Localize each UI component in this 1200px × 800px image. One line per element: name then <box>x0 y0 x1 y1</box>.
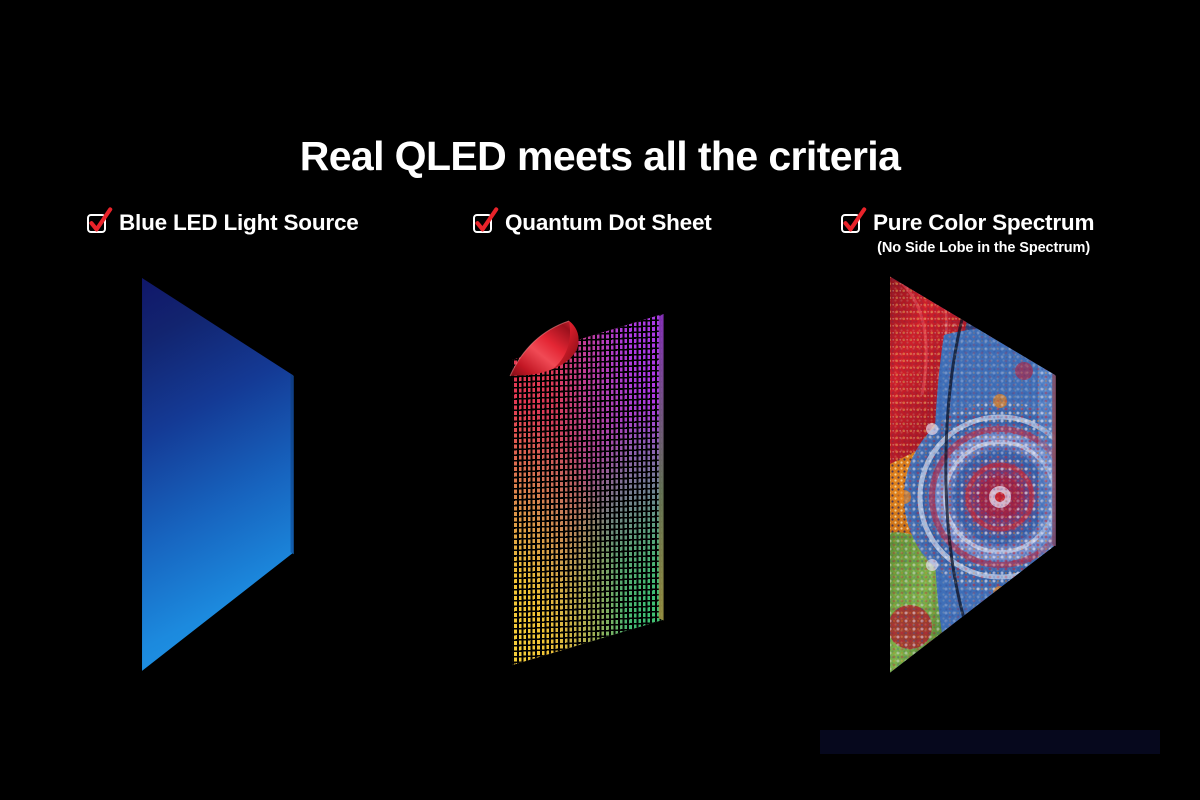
criterion-label: Pure Color Spectrum <box>873 209 1094 237</box>
page-title: Real QLED meets all the criteria <box>0 133 1200 180</box>
blue-led-panel <box>140 276 296 674</box>
checked-checkbox-icon <box>840 212 864 236</box>
criterion-label: Blue LED Light Source <box>119 209 359 237</box>
slide-canvas: Real QLED meets all the criteria Blue LE… <box>0 0 1200 800</box>
criterion-sublabel: (No Side Lobe in the Spectrum) <box>873 238 1094 258</box>
carpet-image <box>888 275 1058 675</box>
criterion-blue-led-light-source: Blue LED Light Source <box>86 209 359 237</box>
checked-checkbox-icon <box>86 212 110 236</box>
bottom-gradient-band <box>820 730 1160 754</box>
pure-color-spectrum-panel <box>888 275 1058 675</box>
quantum-dot-sheet-panel <box>505 305 673 677</box>
criterion-pure-color-spectrum: Pure Color Spectrum (No Side Lobe in the… <box>840 209 1094 258</box>
peeled-film-corner-icon <box>507 319 599 381</box>
checked-checkbox-icon <box>472 212 496 236</box>
criterion-quantum-dot-sheet: Quantum Dot Sheet <box>472 209 712 237</box>
criterion-label: Quantum Dot Sheet <box>505 209 712 237</box>
